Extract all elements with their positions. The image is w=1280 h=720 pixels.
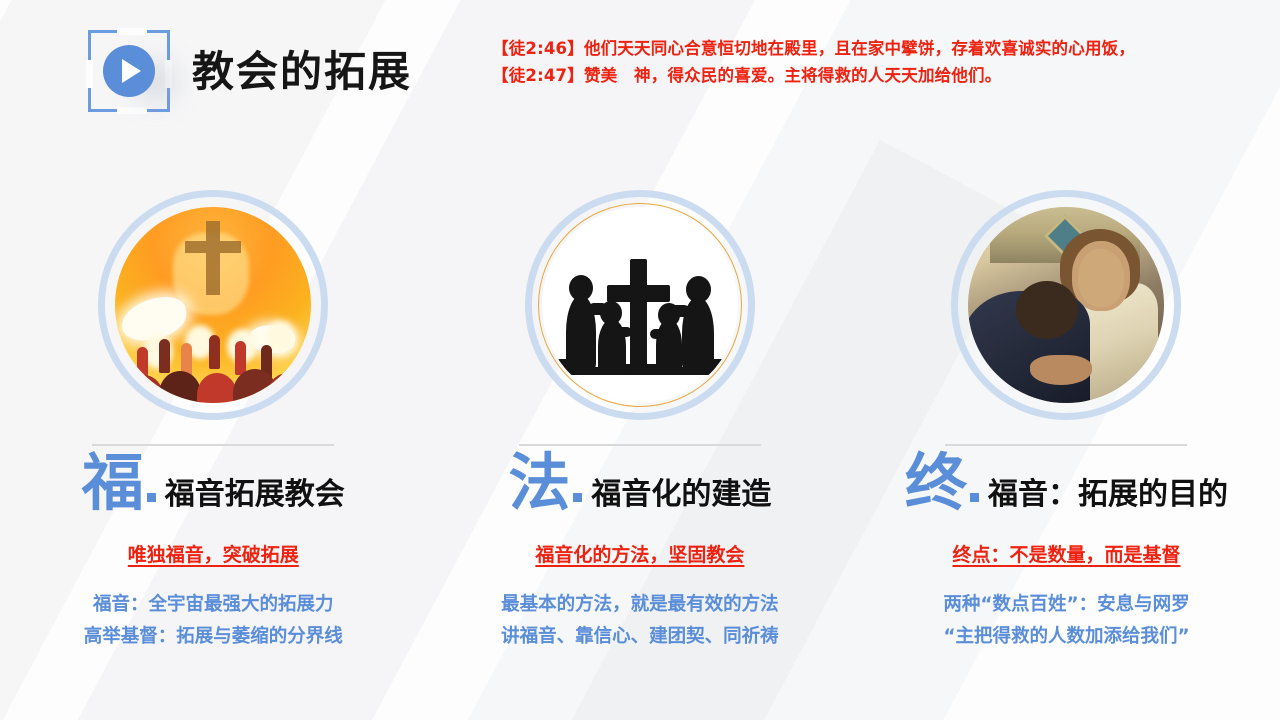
square-bullet-icon <box>573 493 582 502</box>
blue-point: 高举基督：拓展与萎缩的分界线 <box>84 621 343 653</box>
square-bullet-icon <box>147 493 156 502</box>
column-2: 法 福音化的建造 福音化的方法，坚固教会 最基本的方法，就是最有效的方法 讲福音… <box>427 190 854 654</box>
play-triangle-icon <box>122 59 141 83</box>
column-heading-3: 终 福音：拓展的目的 <box>905 452 1228 514</box>
heading-label: 福音：拓展的目的 <box>988 469 1228 513</box>
play-circle-icon <box>103 45 155 97</box>
heading-label: 福音化的建造 <box>591 469 771 513</box>
blue-points-2: 最基本的方法，就是最有效的方法 讲福音、靠信心、建团契、同祈祷 <box>501 589 779 654</box>
big-char-label: 福 <box>82 452 144 514</box>
scripture-line-2: 【徒2:47】赞美 神，得众民的喜爱。主将得救的人天天加给他们。 <box>492 63 1192 90</box>
blue-point: 最基本的方法，就是最有效的方法 <box>501 589 779 621</box>
worship-cross-dove-image <box>115 207 311 403</box>
blue-points-3: 两种“数点百姓”：安息与网罗 “主把得救的人数加添给我们” <box>943 589 1189 654</box>
page-title: 教会的拓展 <box>192 38 412 99</box>
circle-image-2 <box>525 190 755 420</box>
scripture-line-1: 【徒2:46】他们天天同心合意恒切地在殿里，且在家中擘饼，存着欢喜诚实的心用饭， <box>492 36 1192 63</box>
blue-point: 讲福音、靠信心、建团契、同祈祷 <box>501 621 779 653</box>
blue-points-1: 福音：全宇宙最强大的拓展力 高举基督：拓展与萎缩的分界线 <box>84 589 343 654</box>
slide-root: 教会的拓展 【徒2:46】他们天天同心合意恒切地在殿里，且在家中擘饼，存着欢喜诚… <box>0 0 1280 720</box>
blue-point: 福音：全宇宙最强大的拓展力 <box>84 589 343 621</box>
column-1: 福 福音拓展教会 唯独福音，突破拓展 福音：全宇宙最强大的拓展力 高举基督：拓展… <box>0 190 427 654</box>
circle-image-3 <box>951 190 1181 420</box>
frame-notch <box>165 60 172 88</box>
scripture-block: 【徒2:46】他们天天同心合意恒切地在殿里，且在家中擘饼，存着欢喜诚实的心用饭，… <box>492 36 1192 89</box>
heading-label: 福音拓展教会 <box>165 469 345 513</box>
big-char-label: 终 <box>905 452 967 514</box>
frame-notch <box>86 60 93 88</box>
columns-container: 福 福音拓展教会 唯独福音，突破拓展 福音：全宇宙最强大的拓展力 高举基督：拓展… <box>0 190 1280 654</box>
blue-point: 两种“数点百姓”：安息与网罗 <box>943 589 1189 621</box>
family-praying-at-cross-silhouette-image <box>542 207 738 403</box>
blue-point: “主把得救的人数加添给我们” <box>943 621 1189 653</box>
big-char-label: 法 <box>508 452 570 514</box>
slide-header: 教会的拓展 【徒2:46】他们天天同心合意恒切地在殿里，且在家中擘饼，存着欢喜诚… <box>0 0 1280 140</box>
play-button-in-frame-icon <box>88 30 170 112</box>
square-bullet-icon <box>970 493 979 502</box>
red-emphasis-2: 福音化的方法，坚固教会 <box>535 540 744 567</box>
column-divider <box>945 444 1187 446</box>
column-3: 终 福音：拓展的目的 终点：不是数量，而是基督 两种“数点百姓”：安息与网罗 “… <box>853 190 1280 654</box>
red-emphasis-3: 终点：不是数量，而是基督 <box>952 540 1180 567</box>
circle-image-1 <box>98 190 328 420</box>
column-heading-1: 福 福音拓展教会 <box>82 452 345 514</box>
red-emphasis-1: 唯独福音，突破拓展 <box>128 540 299 567</box>
jesus-comforting-man-painting-image <box>968 207 1164 403</box>
column-heading-2: 法 福音化的建造 <box>508 452 771 514</box>
